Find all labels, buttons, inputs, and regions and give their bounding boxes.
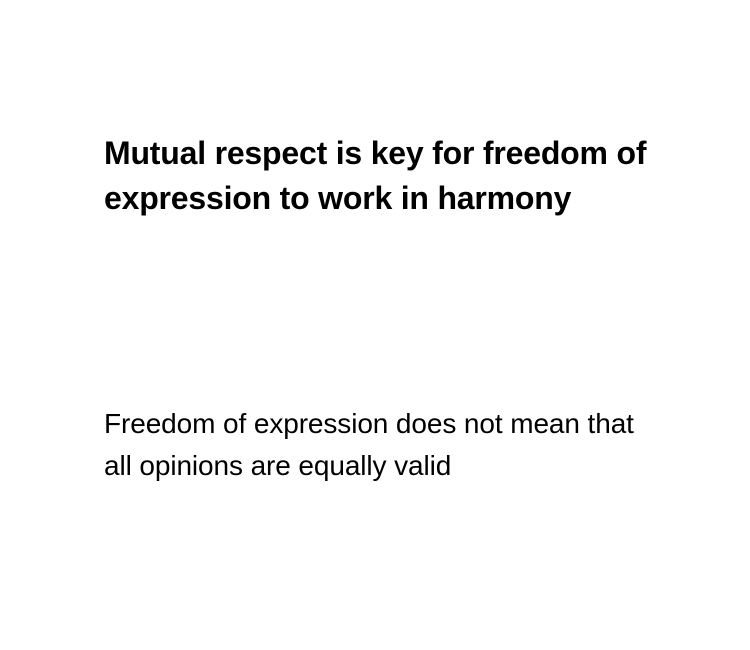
article-page: Mutual respect is key for freedom of exp…: [0, 0, 750, 650]
article-headline: Mutual respect is key for freedom of exp…: [104, 131, 652, 221]
article-standfirst: Freedom of expression does not mean that…: [104, 403, 652, 487]
